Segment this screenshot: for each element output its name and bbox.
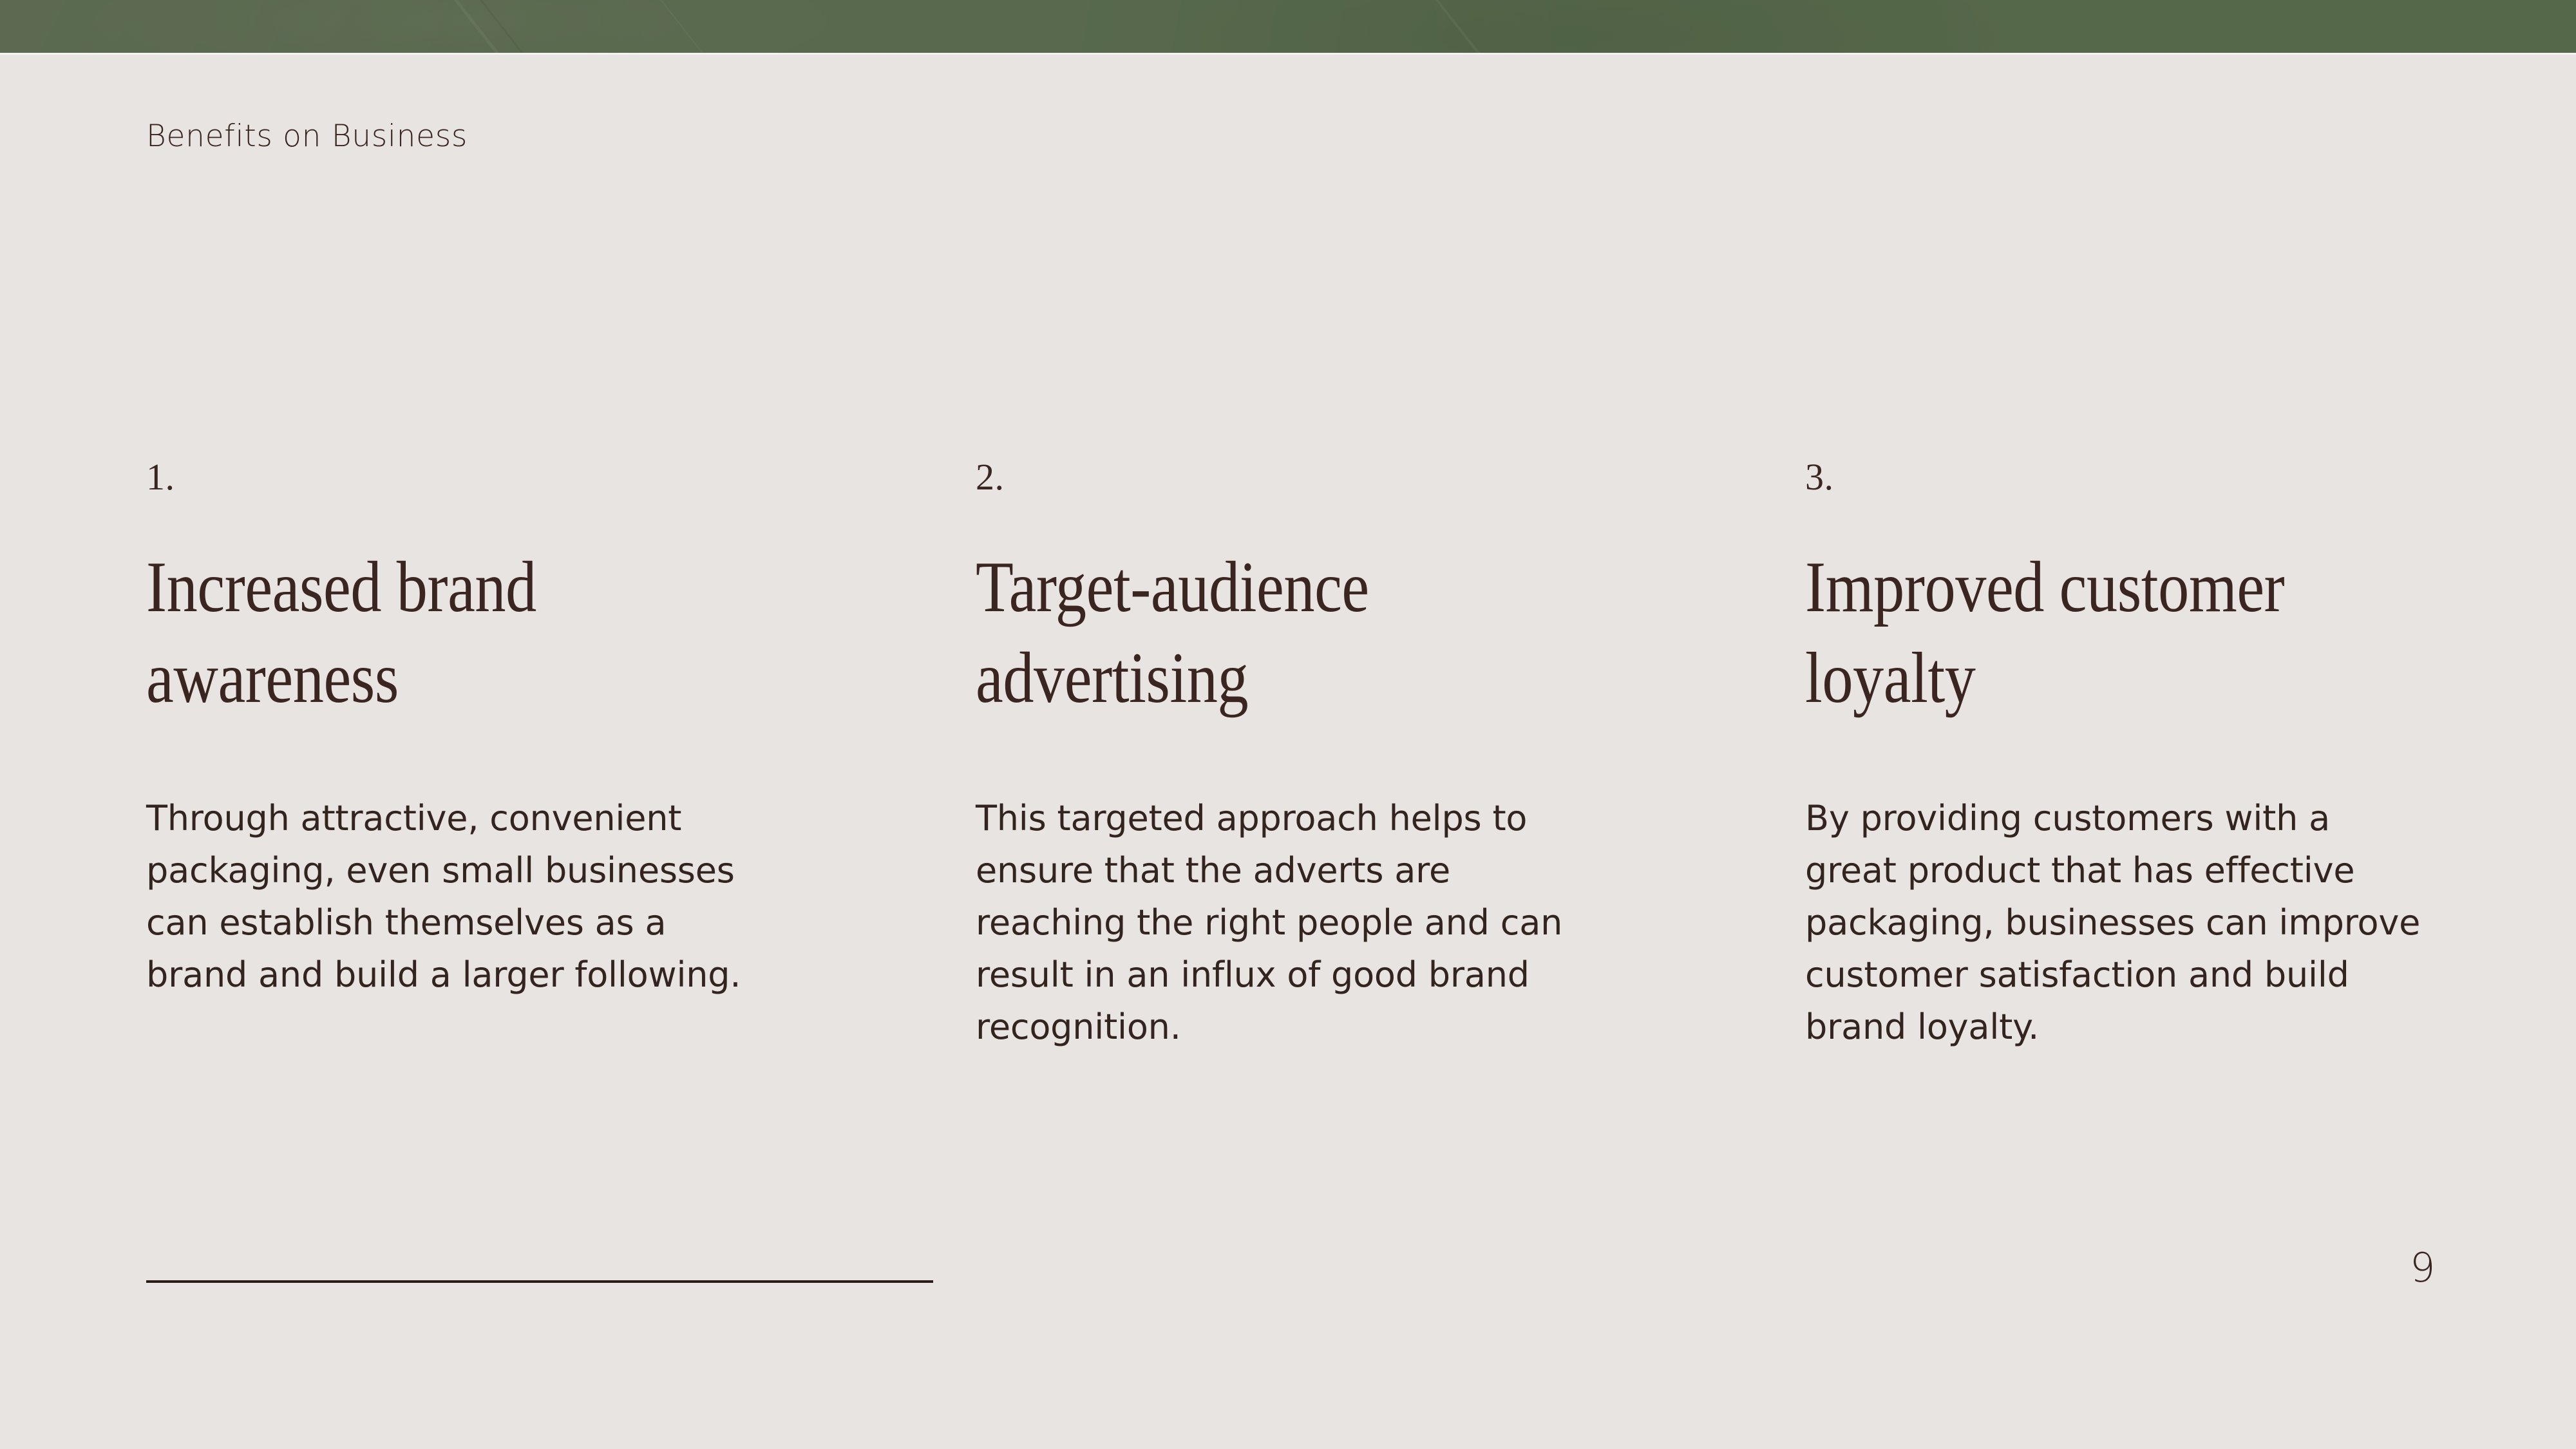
footer-divider-rule (146, 1280, 933, 1283)
page-number: 9 (2410, 1248, 2436, 1288)
benefit-body-2: This targeted approach helps to ensure t… (976, 792, 1594, 1053)
benefit-column-3: 3. Improved customer loyalty By providin… (1805, 459, 2423, 1053)
top-accent-band (0, 0, 2576, 53)
benefit-number-2: 2. (976, 459, 1594, 496)
benefit-body-1: Through attractive, convenient packaging… (146, 792, 764, 1001)
band-bottom-hairline (0, 53, 2576, 55)
benefit-number-3: 3. (1805, 459, 2423, 496)
benefit-heading-1: Increased brand awareness (146, 542, 763, 724)
band-texture-overlay (0, 0, 2576, 53)
benefit-column-2: 2. Target-audience advertising This targ… (976, 459, 1594, 1053)
benefit-heading-3: Improved customer loyalty (1805, 542, 2422, 724)
benefit-body-3: By providing customers with a great prod… (1805, 792, 2423, 1053)
benefits-columns: 1. Increased brand awareness Through att… (146, 459, 2436, 1053)
benefit-number-1: 1. (146, 459, 764, 496)
benefit-heading-2: Target-audience advertising (976, 542, 1593, 724)
benefit-column-1: 1. Increased brand awareness Through att… (146, 459, 764, 1053)
page-title: Benefits on Business (146, 118, 468, 156)
slide-canvas: Benefits on Business 1. Increased brand … (0, 0, 2576, 1449)
